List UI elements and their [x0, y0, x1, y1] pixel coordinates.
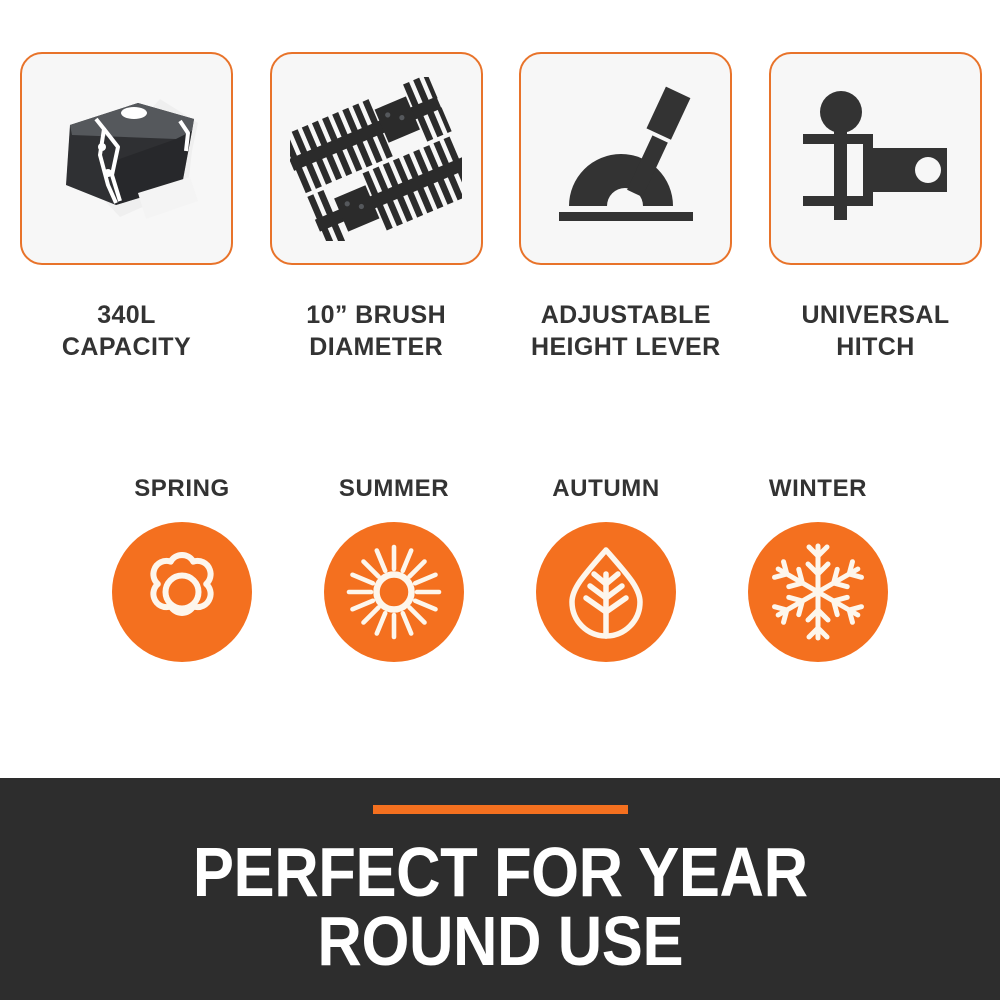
- accent-rule: [373, 805, 628, 814]
- season-label: SUMMER: [339, 475, 449, 503]
- season-item-autumn: AUTUMN: [536, 475, 676, 662]
- feature-icon-box: [20, 52, 233, 265]
- feature-item-capacity: 340L CAPACITY: [20, 52, 233, 363]
- season-circle: [324, 522, 464, 662]
- feature-icon-box: [270, 52, 483, 265]
- catcher-bag-icon: [42, 89, 212, 229]
- season-circle: [748, 522, 888, 662]
- leaf-icon: [563, 544, 649, 640]
- feature-label: 340L CAPACITY: [62, 299, 191, 363]
- tow-hitch-icon: [797, 84, 953, 234]
- sun-icon: [344, 542, 444, 642]
- bottom-banner: PERFECT FOR YEAR ROUND USE: [0, 778, 1000, 1000]
- season-item-winter: WINTER: [748, 475, 888, 662]
- feature-icon-box: [519, 52, 732, 265]
- feature-item-height-lever: ADJUSTABLE HEIGHT LEVER: [519, 52, 732, 363]
- feature-row: 340L CAPACITY: [20, 52, 982, 363]
- season-item-spring: SPRING: [112, 475, 252, 662]
- feature-label: 10” BRUSH DIAMETER: [306, 299, 446, 363]
- season-label: AUTUMN: [552, 475, 660, 503]
- feature-item-brush: 10” BRUSH DIAMETER: [270, 52, 483, 363]
- season-label: WINTER: [769, 475, 867, 503]
- flower-icon: [137, 547, 227, 637]
- banner-headline: PERFECT FOR YEAR ROUND USE: [193, 838, 808, 977]
- season-circle: [112, 522, 252, 662]
- feature-item-hitch: UNIVERSAL HITCH: [769, 52, 982, 363]
- height-lever-icon: [551, 84, 701, 234]
- season-label: SPRING: [134, 475, 230, 503]
- feature-label: UNIVERSAL HITCH: [801, 299, 949, 363]
- snowflake-icon: [768, 542, 868, 642]
- season-item-summer: SUMMER: [324, 475, 464, 662]
- season-circle: [536, 522, 676, 662]
- brush-diameter-icon: [290, 77, 462, 241]
- season-row: SPRING SUMMER: [112, 475, 888, 662]
- feature-icon-box: [769, 52, 982, 265]
- feature-label: ADJUSTABLE HEIGHT LEVER: [531, 299, 721, 363]
